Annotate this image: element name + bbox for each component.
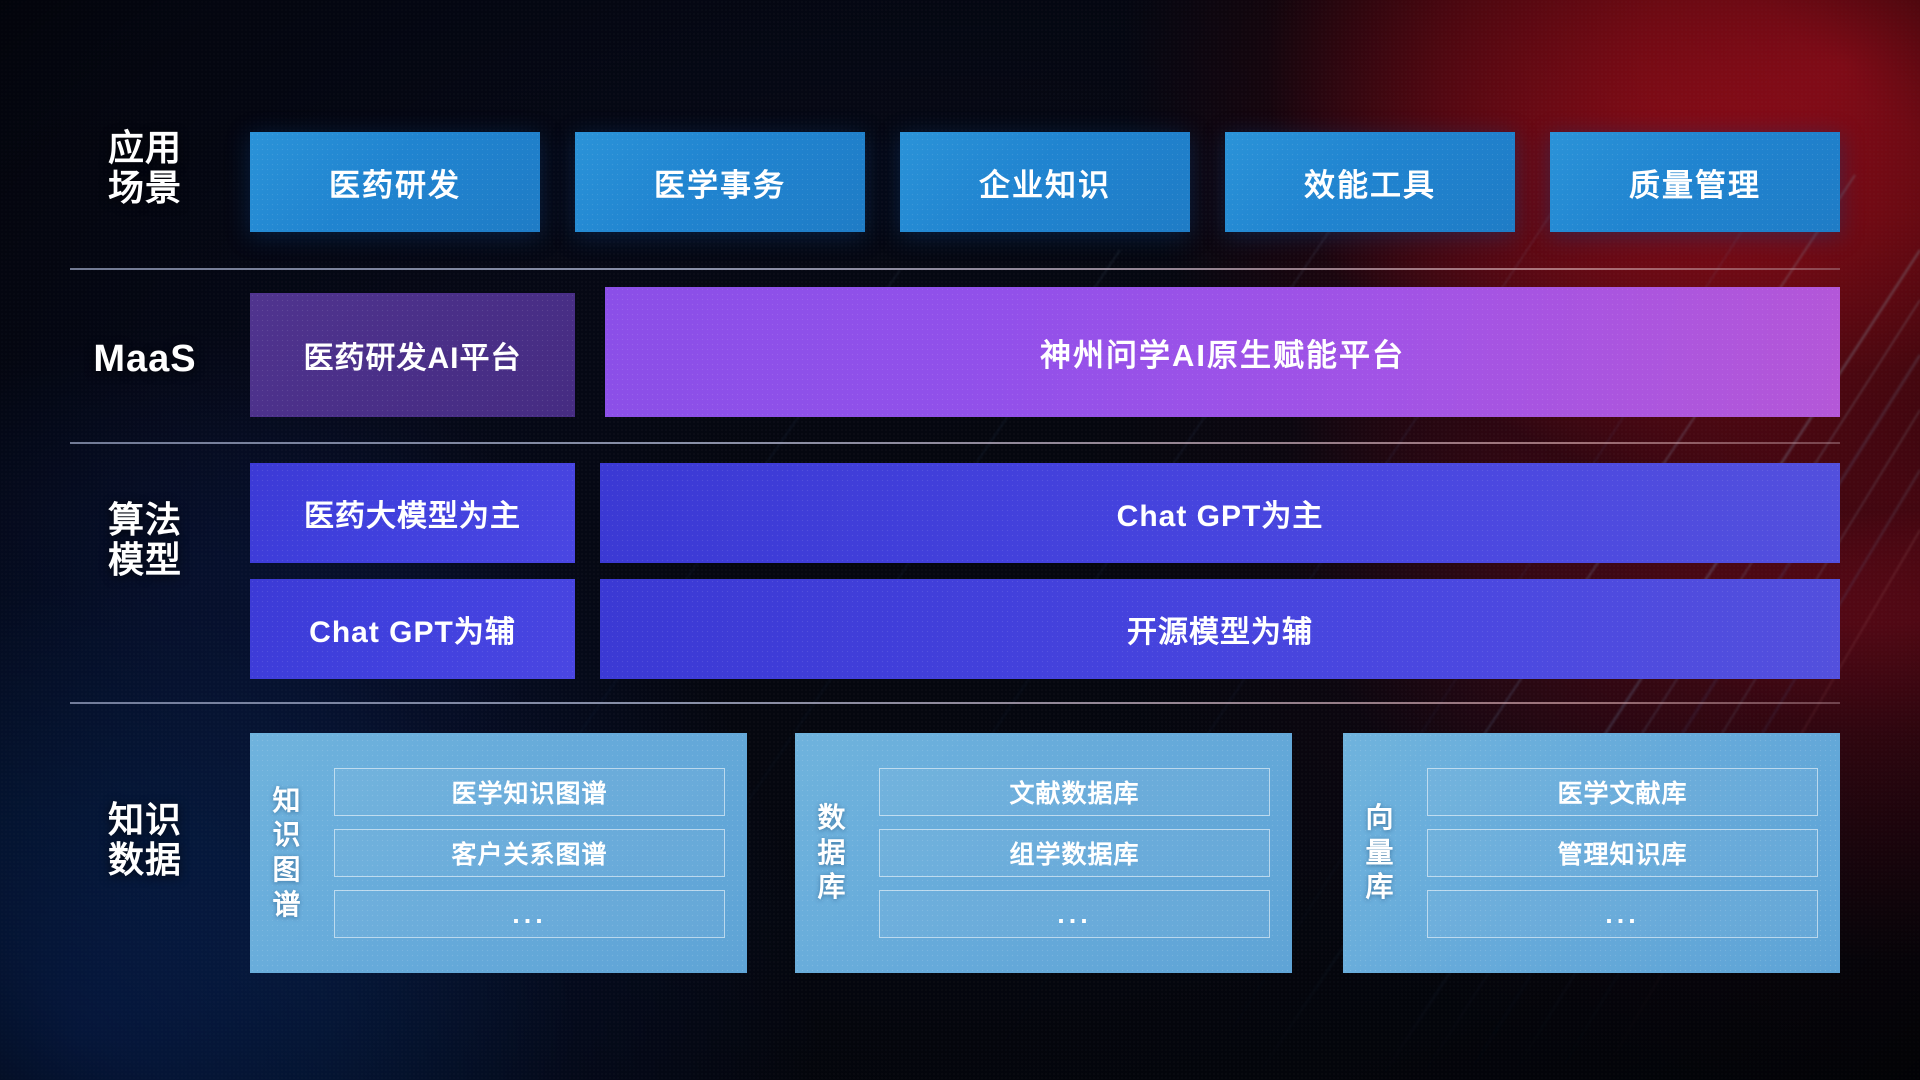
knowledge-item-more[interactable]: ...: [1427, 890, 1818, 938]
divider-after-algorithm: [70, 702, 1840, 704]
panel-title-char: 谱: [272, 888, 301, 923]
app-card-efficiency-tools[interactable]: 效能工具: [1225, 132, 1515, 232]
panel-title-char: 数: [817, 801, 846, 836]
algo-card-chatgpt-primary[interactable]: Chat GPT为主: [600, 463, 1840, 563]
panel-title-char: 知: [272, 784, 301, 819]
row-label-maas: MaaS: [70, 338, 220, 381]
app-card-label: 医药研发: [329, 160, 461, 205]
app-card-label: 效能工具: [1304, 160, 1436, 205]
row-label-line: 场景: [85, 168, 205, 208]
row-label-line: 知识: [85, 800, 205, 840]
maas-card-label: 神州问学AI原生赋能平台: [1040, 330, 1405, 375]
knowledge-panel-items-graph: 医学知识图谱 客户关系图谱 ...: [324, 733, 747, 973]
row-label-application-scenario: 应用 场景: [85, 128, 205, 209]
slide-canvas: 应用 场景 医药研发 医学事务 企业知识 效能工具 质量管理 MaaS: [0, 0, 1920, 1080]
panel-title-char: 识: [272, 818, 301, 853]
maas-card-medicine-ai-platform[interactable]: 医药研发AI平台: [250, 293, 575, 417]
knowledge-panel-title-vector: 向 量 库: [1343, 733, 1417, 973]
algo-card-chatgpt-secondary[interactable]: Chat GPT为辅: [250, 579, 575, 679]
knowledge-panel-graph[interactable]: 知 识 图 谱 医学知识图谱 客户关系图谱 ...: [250, 733, 747, 973]
knowledge-item[interactable]: 文献数据库: [879, 768, 1270, 816]
app-card-enterprise-knowledge[interactable]: 企业知识: [900, 132, 1190, 232]
knowledge-item[interactable]: 客户关系图谱: [334, 829, 725, 877]
algo-card-label: Chat GPT为主: [1117, 491, 1324, 535]
divider-after-application: [70, 268, 1840, 270]
knowledge-item-more[interactable]: ...: [334, 890, 725, 938]
knowledge-item[interactable]: 医学文献库: [1427, 768, 1818, 816]
divider-after-maas: [70, 442, 1840, 444]
panel-title-char: 库: [817, 870, 846, 905]
algo-card-label: Chat GPT为辅: [309, 607, 516, 651]
algo-card-opensource-secondary[interactable]: 开源模型为辅: [600, 579, 1840, 679]
row-label-line: 模型: [85, 540, 205, 580]
maas-card-shenzhou-wenxue-platform[interactable]: 神州问学AI原生赋能平台: [605, 287, 1840, 417]
app-card-label: 医学事务: [654, 160, 786, 205]
knowledge-panel-title-graph: 知 识 图 谱: [250, 733, 324, 973]
knowledge-panel-database[interactable]: 数 据 库 文献数据库 组学数据库 ...: [795, 733, 1292, 973]
panel-title-char: 图: [272, 853, 301, 888]
algo-card-label: 开源模型为辅: [1127, 607, 1313, 651]
row-label-algorithm-model: 算法 模型: [85, 500, 205, 581]
panel-title-char: 量: [1365, 836, 1394, 871]
panel-title-char: 库: [1365, 870, 1394, 905]
algo-card-medicine-large-model-primary[interactable]: 医药大模型为主: [250, 463, 575, 563]
row-label-line: MaaS: [70, 338, 220, 381]
algo-card-label: 医药大模型为主: [304, 491, 521, 535]
knowledge-panel-vector[interactable]: 向 量 库 医学文献库 管理知识库 ...: [1343, 733, 1840, 973]
row-label-line: 应用: [85, 128, 205, 168]
knowledge-panel-items-database: 文献数据库 组学数据库 ...: [869, 733, 1292, 973]
app-card-quality-management[interactable]: 质量管理: [1550, 132, 1840, 232]
maas-card-label: 医药研发AI平台: [304, 333, 522, 377]
app-card-medical-affairs[interactable]: 医学事务: [575, 132, 865, 232]
row-label-line: 算法: [85, 500, 205, 540]
knowledge-panel-items-vector: 医学文献库 管理知识库 ...: [1417, 733, 1840, 973]
knowledge-item[interactable]: 组学数据库: [879, 829, 1270, 877]
knowledge-item[interactable]: 管理知识库: [1427, 829, 1818, 877]
panel-title-char: 向: [1365, 801, 1394, 836]
knowledge-item-more[interactable]: ...: [879, 890, 1270, 938]
knowledge-panel-title-database: 数 据 库: [795, 733, 869, 973]
row-label-knowledge-data: 知识 数据: [85, 800, 205, 881]
app-card-label: 企业知识: [979, 160, 1111, 205]
app-card-label: 质量管理: [1629, 160, 1761, 205]
app-card-medicine-rd[interactable]: 医药研发: [250, 132, 540, 232]
knowledge-item[interactable]: 医学知识图谱: [334, 768, 725, 816]
panel-title-char: 据: [817, 836, 846, 871]
row-label-line: 数据: [85, 840, 205, 880]
